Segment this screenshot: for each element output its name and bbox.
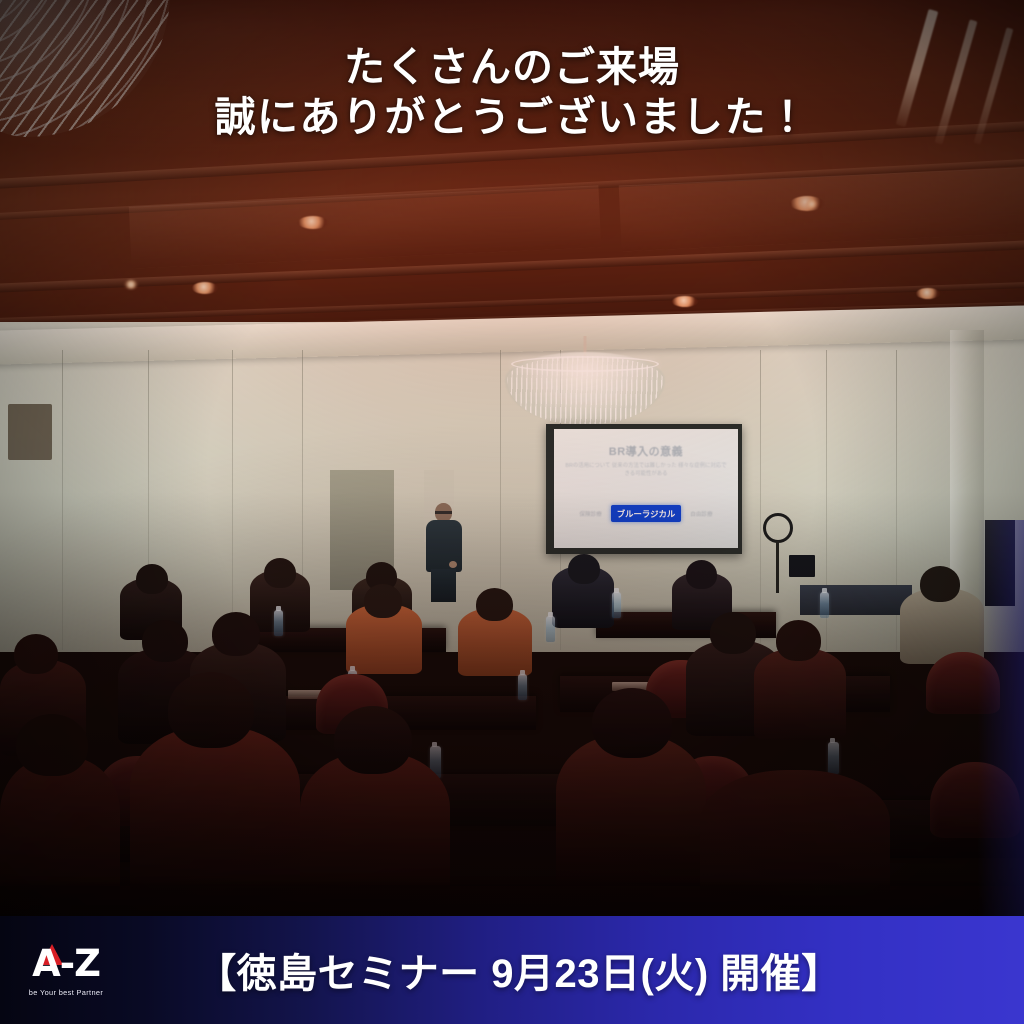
headline-line-2: 誠にありがとうございました！ bbox=[0, 92, 1024, 142]
page-title: たくさんのご来場 誠にありがとうございました！ bbox=[0, 42, 1024, 142]
bottom-banner: A-Z be Your best Partner 【徳島セミナー 9月23日(火… bbox=[0, 916, 1024, 1024]
seminar-photograph: BR導入の意義 BRの活用について 従来の方法では難しかった 様々な症例に対応で… bbox=[0, 0, 1024, 1024]
logo-mark: A-Z bbox=[23, 943, 109, 985]
headline-line-1: たくさんのご来場 bbox=[0, 42, 1024, 92]
az-logo[interactable]: A-Z be Your best Partner bbox=[0, 916, 132, 1024]
banner-event-text: 【徳島セミナー 9月23日(火) 開催】 bbox=[132, 941, 1024, 999]
photo-vignette bbox=[0, 0, 1024, 1024]
logo-tagline: be Your best Partner bbox=[29, 988, 103, 997]
logo-wordmark: A-Z bbox=[23, 943, 109, 985]
seminar-photo-card: BR導入の意義 BRの活用について 従来の方法では難しかった 様々な症例に対応で… bbox=[0, 0, 1024, 1024]
